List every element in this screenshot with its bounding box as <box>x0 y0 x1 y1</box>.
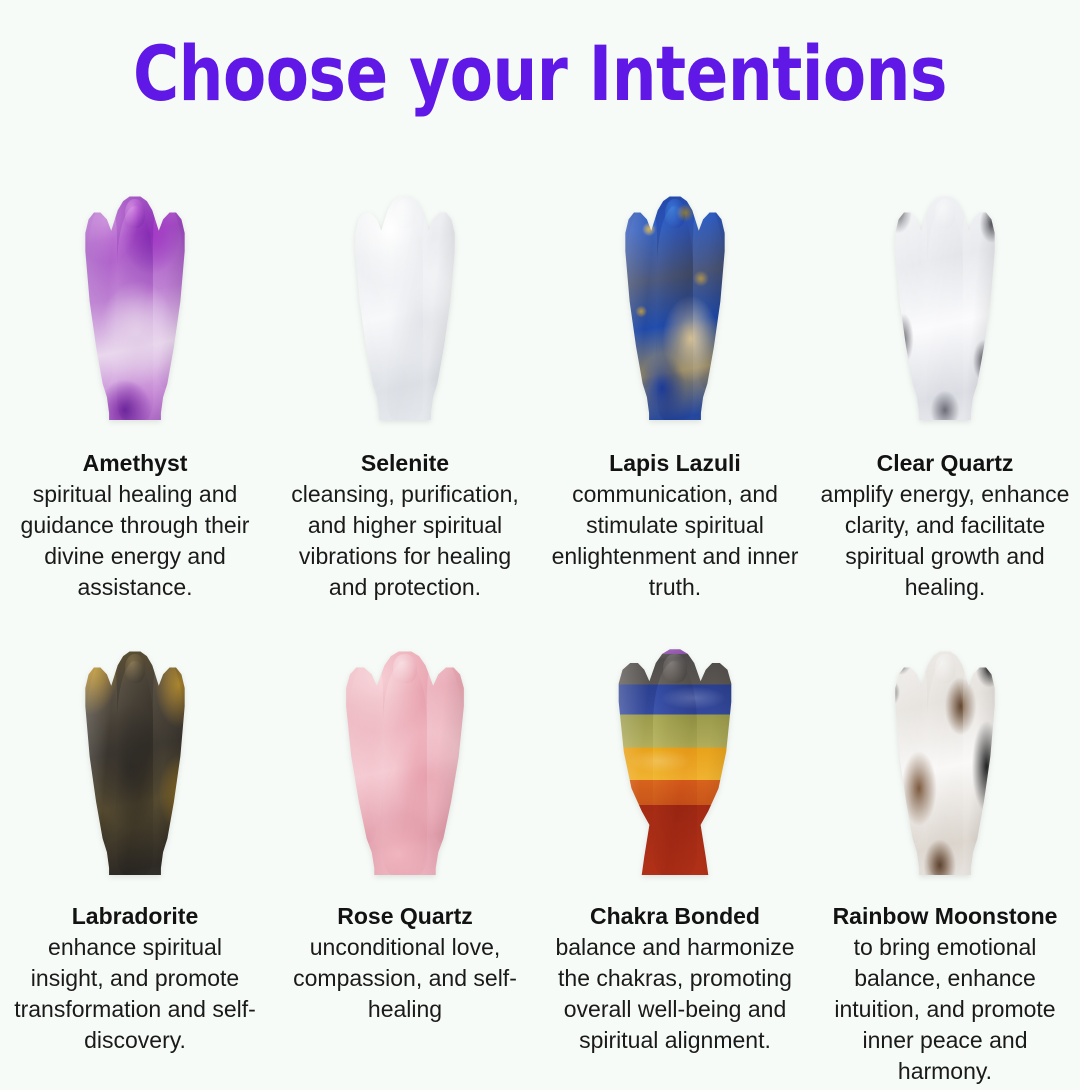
rose-quartz-angel-figurine-icon <box>341 647 469 875</box>
figurine-wrap <box>8 170 262 420</box>
figurine-wrap <box>548 630 802 875</box>
crystal-card-lapis-lazuli[interactable]: Lapis Lazuli communication, and stimulat… <box>540 170 810 630</box>
figurine-wrap <box>8 630 262 875</box>
crystal-description: amplify energy, enhance clarity, and fac… <box>820 479 1070 603</box>
crystal-card-rose-quartz[interactable]: Rose Quartz unconditional love, compassi… <box>270 630 540 1090</box>
poster-canvas: Choose your Intentions Amethyst spiritua… <box>0 0 1080 1080</box>
crystal-description: communication, and stimulate spiritual e… <box>550 479 800 603</box>
figurine-wrap <box>548 170 802 420</box>
page-title: Choose your Intentions <box>43 32 1037 116</box>
clear-quartz-angel-figurine-icon <box>891 192 999 420</box>
crystal-name: Chakra Bonded <box>590 903 760 930</box>
amethyst-angel-figurine-icon <box>81 192 189 420</box>
crystal-description: cleansing, purification, and higher spir… <box>280 479 530 603</box>
figurine-wrap <box>278 170 532 420</box>
figurine-wrap <box>818 630 1072 875</box>
figurine-wrap <box>278 630 532 875</box>
selenite-angel-figurine-icon <box>351 192 459 420</box>
figurine-wrap <box>818 170 1072 420</box>
crystal-name: Rose Quartz <box>337 903 472 930</box>
crystal-description: enhance spiritual insight, and promote t… <box>10 932 260 1056</box>
crystal-card-chakra-bonded[interactable]: Chakra Bonded balance and harmonize the … <box>540 630 810 1090</box>
crystal-description: unconditional love, compassion, and self… <box>280 932 530 1025</box>
labradorite-angel-figurine-icon <box>81 647 189 875</box>
crystal-description: to bring emotional balance, enhance intu… <box>820 932 1070 1087</box>
crystal-name: Rainbow Moonstone <box>833 903 1058 930</box>
crystal-grid: Amethyst spiritual healing and guidance … <box>0 170 1080 1090</box>
crystal-description: spiritual healing and guidance through t… <box>10 479 260 603</box>
crystal-name: Labradorite <box>72 903 199 930</box>
crystal-name: Clear Quartz <box>877 450 1014 477</box>
crystal-card-clear-quartz[interactable]: Clear Quartz amplify energy, enhance cla… <box>810 170 1080 630</box>
crystal-card-amethyst[interactable]: Amethyst spiritual healing and guidance … <box>0 170 270 630</box>
crystal-card-selenite[interactable]: Selenite cleansing, purification, and hi… <box>270 170 540 630</box>
crystal-name: Lapis Lazuli <box>609 450 741 477</box>
crystal-description: balance and harmonize the chakras, promo… <box>550 932 800 1056</box>
crystal-card-labradorite[interactable]: Labradorite enhance spiritual insight, a… <box>0 630 270 1090</box>
rainbow-moonstone-angel-figurine-icon <box>891 647 999 875</box>
lapis-lazuli-angel-figurine-icon <box>621 192 729 420</box>
crystal-name: Amethyst <box>83 450 188 477</box>
crystal-name: Selenite <box>361 450 449 477</box>
chakra-bonded-angel-figurine-icon <box>611 647 739 875</box>
crystal-card-rainbow-moonstone[interactable]: Rainbow Moonstone to bring emotional bal… <box>810 630 1080 1090</box>
